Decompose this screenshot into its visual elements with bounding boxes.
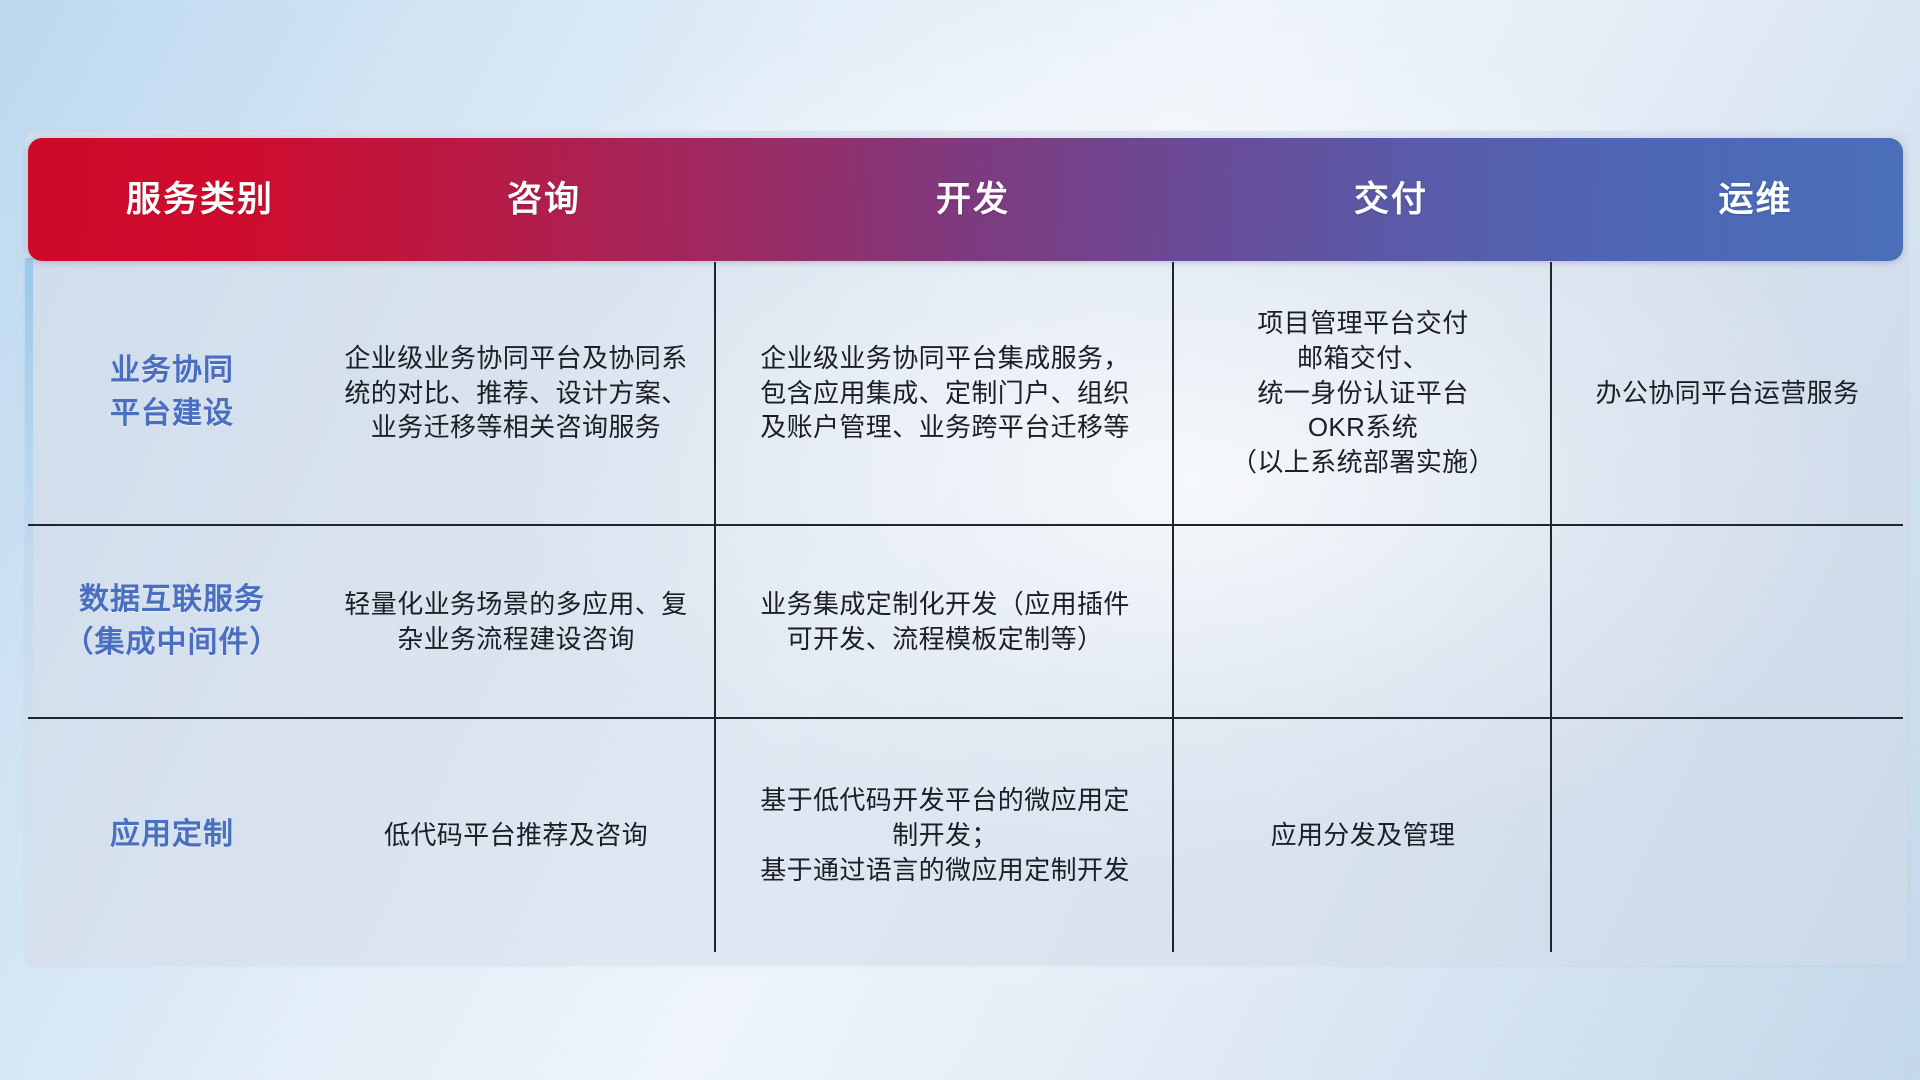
cell-row3-operations xyxy=(1552,719,1903,952)
table-header-row: 服务类别 咨询 开发 交付 运维 xyxy=(28,138,1903,261)
column-header-category: 服务类别 xyxy=(56,182,344,217)
cell-row3-consulting: 低代码平台推荐及咨询 xyxy=(316,719,716,952)
cell-row2-consulting: 轻量化业务场景的多应用、复 杂业务流程建设咨询 xyxy=(316,526,716,717)
row-label-data-integration: 数据互联服务 （集成中间件） xyxy=(28,526,316,717)
row-label-app-customization: 应用定制 xyxy=(28,719,316,952)
column-header-consulting: 咨询 xyxy=(344,182,744,217)
slide-canvas: 服务类别 咨询 开发 交付 运维 业务协同 平台建设 企业级业务协同平台及协同系… xyxy=(0,0,1920,1080)
cell-row1-consulting: 企业级业务协同平台及协同系 统的对比、推荐、设计方案、 业务迁移等相关咨询服务 xyxy=(316,262,716,524)
cell-row3-development: 基于低代码开发平台的微应用定 制开发； 基于通过语言的微应用定制开发 xyxy=(716,719,1174,952)
cell-row1-development: 企业级业务协同平台集成服务， 包含应用集成、定制门户、组织 及账户管理、业务跨平… xyxy=(716,262,1174,524)
row-label-business-collaboration: 业务协同 平台建设 xyxy=(28,262,316,524)
cell-row3-delivery: 应用分发及管理 xyxy=(1174,719,1552,952)
column-header-delivery: 交付 xyxy=(1202,182,1580,217)
column-header-operations: 运维 xyxy=(1580,182,1920,217)
cell-row1-operations: 办公协同平台运营服务 xyxy=(1552,262,1903,524)
cell-row2-operations xyxy=(1552,526,1903,717)
cell-row2-development: 业务集成定制化开发（应用插件 可开发、流程模板定制等） xyxy=(716,526,1174,717)
column-header-development: 开发 xyxy=(744,182,1202,217)
cell-row2-delivery xyxy=(1174,526,1552,717)
cell-row1-delivery: 项目管理平台交付 邮箱交付、 统一身份认证平台 OKR系统 （以上系统部署实施） xyxy=(1174,262,1552,524)
